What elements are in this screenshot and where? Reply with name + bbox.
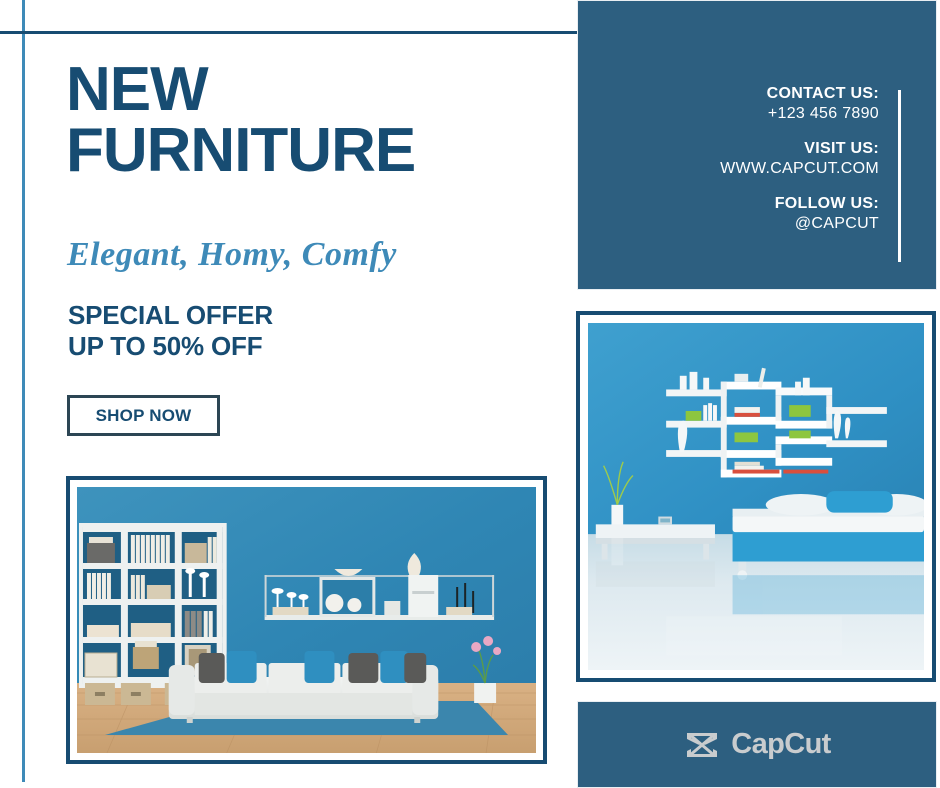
- contact-value-social[interactable]: @CAPCUT: [720, 215, 879, 233]
- offer-line-1: SPECIAL OFFER: [68, 300, 273, 331]
- contact-group-social: FOLLOW US: @CAPCUT: [720, 195, 879, 233]
- tagline: Elegant, Homy, Comfy: [67, 236, 397, 274]
- contact-value-website[interactable]: WWW.CAPCUT.COM: [720, 160, 879, 178]
- contact-label-phone: CONTACT US:: [720, 85, 879, 103]
- capcut-hourglass-icon: [683, 728, 721, 762]
- living-room-photo: [77, 487, 536, 753]
- poster-canvas: NEW FURNITURE Elegant, Homy, Comfy SPECI…: [0, 0, 940, 788]
- vertical-accent-rule: [22, 0, 25, 782]
- offer-line-2: UP TO 50% OFF: [68, 331, 273, 362]
- page-title: NEW FURNITURE: [66, 60, 566, 182]
- shop-now-button[interactable]: SHOP NOW: [67, 395, 220, 436]
- contact-value-phone[interactable]: +123 456 7890: [720, 105, 879, 123]
- contact-group-website: VISIT US: WWW.CAPCUT.COM: [720, 140, 879, 178]
- contact-group-phone: CONTACT US: +123 456 7890: [720, 85, 879, 123]
- contact-list: CONTACT US: +123 456 7890 VISIT US: WWW.…: [720, 85, 879, 233]
- contact-label-social: FOLLOW US:: [720, 195, 879, 213]
- living-room-photo-frame: [66, 476, 547, 764]
- contact-accent-rule: [898, 90, 901, 262]
- contact-panel: CONTACT US: +123 456 7890 VISIT US: WWW.…: [577, 0, 937, 290]
- headline-line-1: NEW: [66, 55, 208, 124]
- special-offer-text: SPECIAL OFFER UP TO 50% OFF: [68, 300, 273, 361]
- brand-bar: CapCut: [577, 701, 937, 788]
- headline-line-2: FURNITURE: [66, 121, 566, 182]
- bedroom-photo-frame: [576, 311, 936, 682]
- brand-name: CapCut: [731, 728, 831, 761]
- contact-label-website: VISIT US:: [720, 140, 879, 158]
- bedroom-photo: [588, 323, 924, 670]
